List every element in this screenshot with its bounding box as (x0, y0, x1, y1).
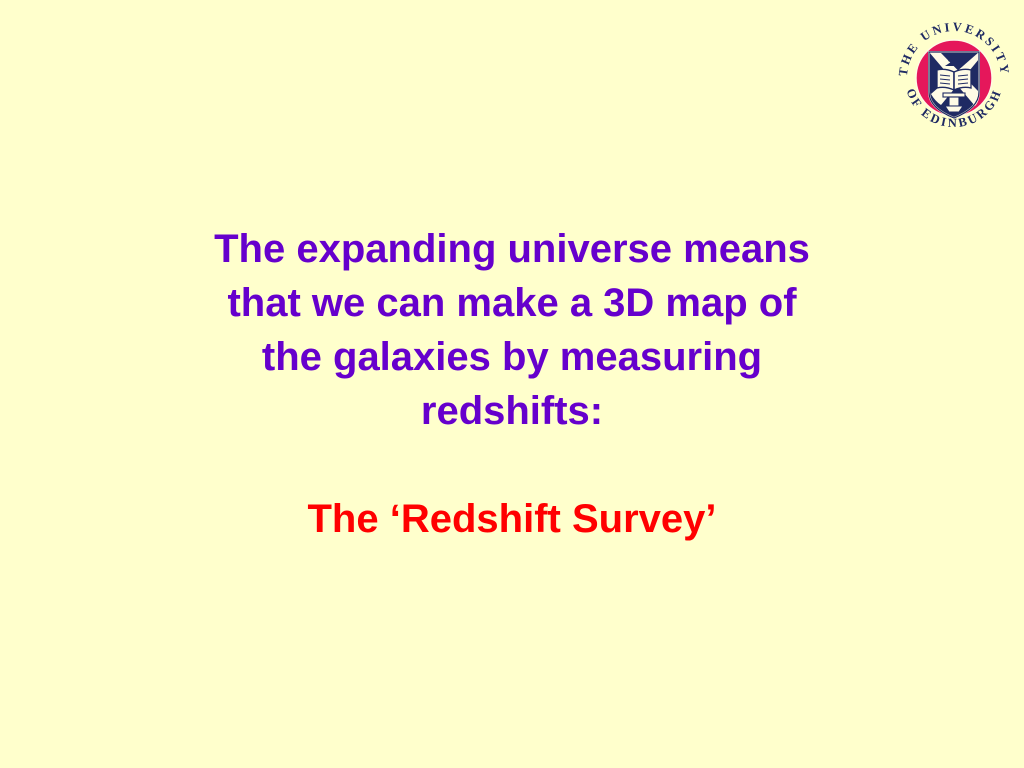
university-logo: ·THE UNIVERSITY· OF EDINBURGH (893, 8, 1015, 138)
body-line-1: The expanding universe means (0, 222, 1024, 276)
slide-canvas: ·THE UNIVERSITY· OF EDINBURGH (0, 0, 1024, 768)
body-line-4: redshifts: (0, 384, 1024, 438)
body-line-2: that we can make a 3D map of (0, 276, 1024, 330)
accent-line-redshift-survey: The ‘Redshift Survey’ (0, 492, 1024, 546)
slide-body-text: The expanding universe means that we can… (0, 222, 1024, 546)
blank-line (0, 438, 1024, 492)
university-of-edinburgh-crest-icon: ·THE UNIVERSITY· OF EDINBURGH (893, 8, 1015, 138)
body-line-3: the galaxies by measuring (0, 330, 1024, 384)
